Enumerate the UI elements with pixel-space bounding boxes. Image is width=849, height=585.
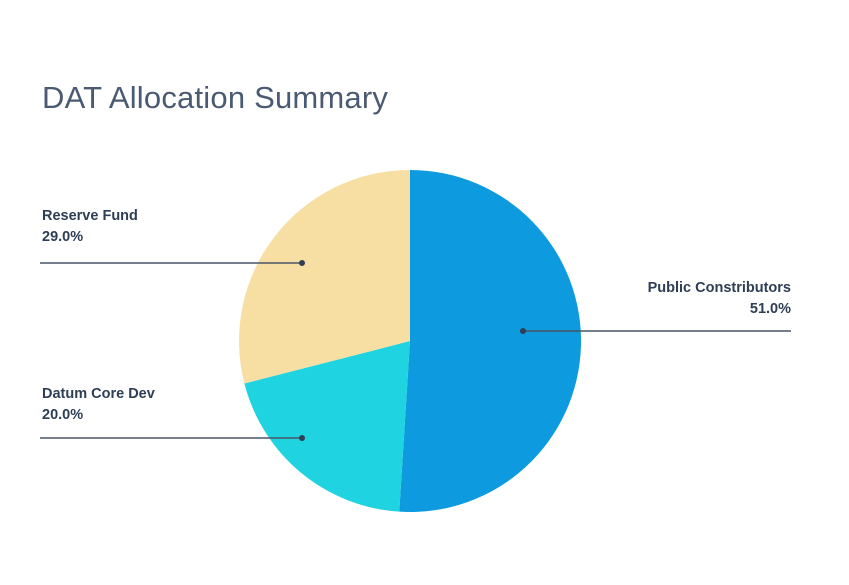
callout-datum-core-dev-value: 20.0% — [42, 405, 155, 426]
callout-public-constributors-label: Public Constributors — [648, 280, 791, 296]
callout-public-constributors-value: 51.0% — [648, 299, 791, 320]
callout-reserve-fund: Reserve Fund 29.0% — [42, 206, 138, 247]
callout-datum-core-dev-label: Datum Core Dev — [42, 386, 155, 402]
callout-reserve-fund-label: Reserve Fund — [42, 208, 138, 224]
pie-slice-public-constributors[interactable] — [399, 170, 581, 512]
chart-canvas: DAT Allocation Summary Reserve Fund 29.0… — [0, 0, 849, 585]
callout-public-constributors: Public Constributors 51.0% — [648, 278, 791, 319]
callout-datum-core-dev: Datum Core Dev 20.0% — [42, 384, 155, 425]
leader-line-datum-core-dev — [40, 435, 305, 441]
callout-reserve-fund-value: 29.0% — [42, 227, 138, 248]
